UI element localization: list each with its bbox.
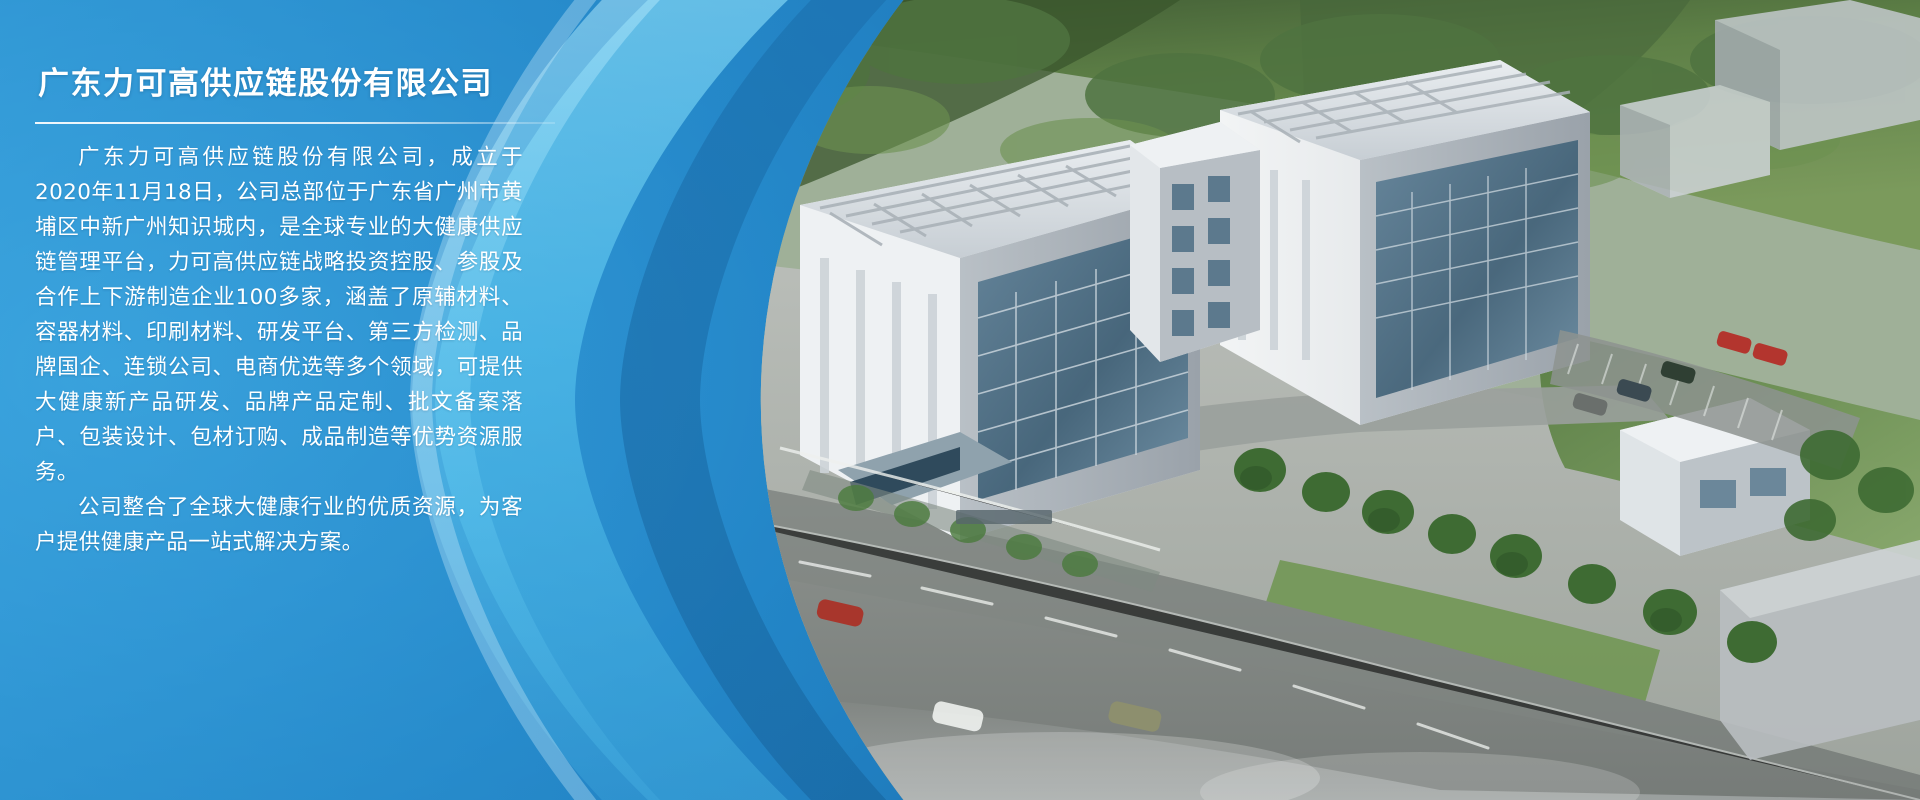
factory-block-rear — [1220, 60, 1590, 425]
description-paragraph-1: 广东力可高供应链股份有限公司，成立于2020年11月18日，公司总部位于广东省广… — [35, 140, 523, 490]
page-title: 广东力可高供应链股份有限公司 — [35, 52, 600, 120]
stair-tower — [1130, 122, 1260, 362]
description-paragraph-2: 公司整合了全球大健康行业的优质资源，为客户提供健康产品一站式解决方案。 — [35, 490, 523, 560]
hero-image-wrapper — [660, 0, 1920, 800]
aerial-rendering-of-industrial-park — [660, 0, 1920, 800]
title-divider — [35, 122, 555, 124]
company-description: 广东力可高供应链股份有限公司，成立于2020年11月18日，公司总部位于广东省广… — [35, 140, 523, 560]
text-column: 广东力可高供应链股份有限公司 广东力可高供应链股份有限公司，成立于2020年11… — [0, 0, 640, 800]
banner-stage: 广东力可高供应链股份有限公司 广东力可高供应链股份有限公司，成立于2020年11… — [0, 0, 1920, 800]
